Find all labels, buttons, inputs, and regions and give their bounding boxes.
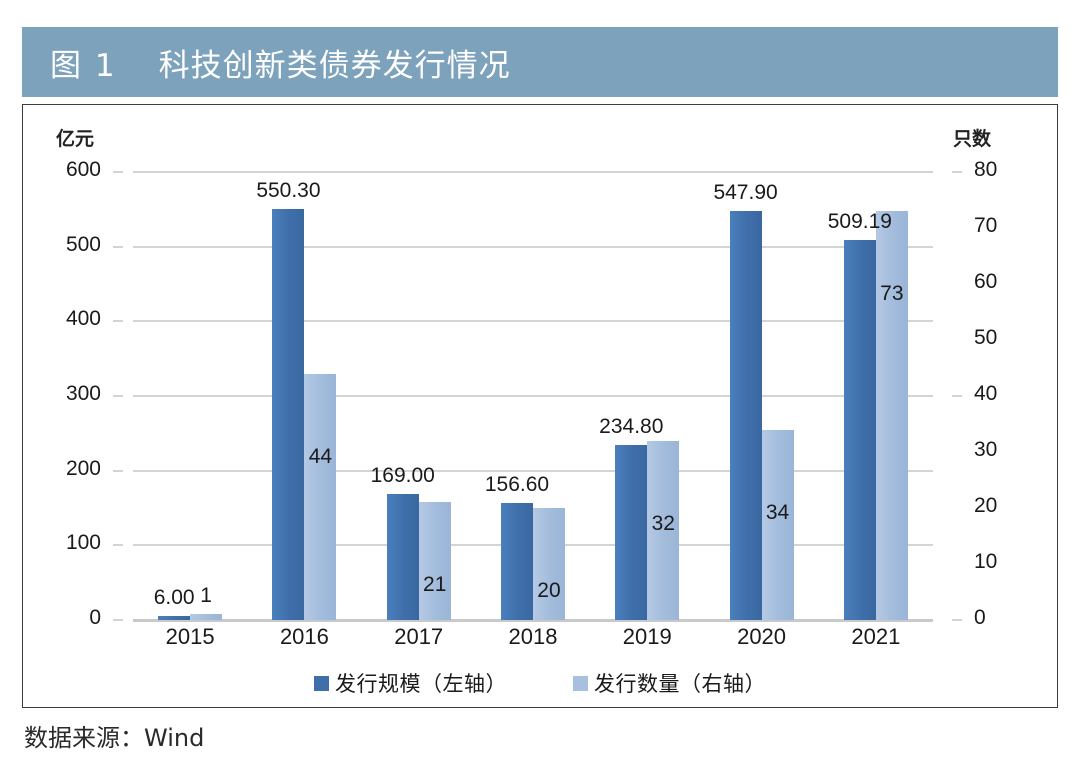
- data-label-issuance-size-2017: 169.00: [348, 464, 458, 488]
- data-label-issuance-count-2015: 1: [186, 584, 226, 608]
- legend-label: 发行数量（右轴）: [594, 668, 766, 698]
- figure-header-band: 图 1 科技创新类债券发行情况: [22, 27, 1058, 97]
- bar-group-2015: 6.001: [133, 172, 247, 620]
- data-label-issuance-count-2018: 20: [529, 579, 569, 603]
- y-axis-right-tick-mark: [952, 171, 962, 173]
- data-label-issuance-count-2019: 32: [643, 512, 683, 536]
- x-axis-tick-label-2020: 2020: [704, 624, 818, 650]
- x-axis-tick-label-2021: 2021: [819, 624, 933, 650]
- y-axis-right-tick-label: 20: [974, 494, 997, 518]
- bar-issuance-count-2018[interactable]: [533, 508, 565, 620]
- y-axis-right-tick-label: 10: [974, 550, 997, 574]
- y-axis-left-tick-label: 400: [66, 307, 101, 331]
- y-axis-right-tick-label: 80: [974, 158, 997, 182]
- y-axis-right-tick-mark: [952, 395, 962, 397]
- data-label-issuance-count-2020: 34: [758, 501, 798, 525]
- right-axis-unit-label: 只数: [953, 124, 991, 151]
- bar-issuance-count-2016[interactable]: [304, 374, 336, 620]
- data-label-issuance-size-2018: 156.60: [462, 473, 572, 497]
- legend-swatch-icon: [573, 676, 588, 691]
- legend-item-issuance-size[interactable]: 发行规模（左轴）: [314, 668, 507, 698]
- y-axis-right-tick-label: 30: [974, 438, 997, 462]
- data-label-issuance-size-2020: 547.90: [691, 181, 801, 205]
- x-axis-tick-label-2015: 2015: [133, 624, 247, 650]
- bar-group-2018: 156.6020: [476, 172, 590, 620]
- data-label-issuance-size-2019: 234.80: [576, 415, 686, 439]
- y-axis-left-tick-mark: [113, 470, 123, 472]
- y-axis-left-tick-mark: [113, 395, 123, 397]
- y-axis-left-tick-mark: [113, 171, 123, 173]
- legend-swatch-icon: [314, 676, 329, 691]
- y-axis-left-tick-label: 500: [66, 233, 101, 257]
- bar-issuance-count-2017[interactable]: [419, 502, 451, 620]
- bar-issuance-count-2015[interactable]: [190, 614, 222, 620]
- plot-area: 6.001550.3044169.0021156.6020234.8032547…: [133, 172, 933, 620]
- legend-label: 发行规模（左轴）: [335, 668, 507, 698]
- bar-group-2021: 509.1973: [819, 172, 933, 620]
- data-label-issuance-count-2021: 73: [872, 282, 912, 306]
- data-label-issuance-count-2016: 44: [300, 445, 340, 469]
- bar-issuance-size-2017[interactable]: [387, 494, 419, 620]
- chart-legend: 发行规模（左轴）发行数量（右轴）: [0, 668, 1080, 698]
- y-axis-left-tick-label: 100: [66, 531, 101, 555]
- data-label-issuance-size-2021: 509.19: [805, 210, 915, 234]
- data-label-issuance-size-2016: 550.30: [233, 179, 343, 203]
- bar-issuance-count-2021[interactable]: [876, 211, 908, 620]
- y-axis-left-tick-label: 0: [89, 606, 101, 630]
- x-axis-tick-label-2019: 2019: [590, 624, 704, 650]
- bar-group-2016: 550.3044: [247, 172, 361, 620]
- figure-title: 科技创新类债券发行情况: [159, 40, 511, 85]
- y-axis-right: 80706050403020100: [952, 172, 1022, 620]
- data-label-issuance-count-2017: 21: [415, 573, 455, 597]
- y-axis-right-tick-mark: [952, 619, 962, 621]
- y-axis-right-tick-label: 60: [974, 270, 997, 294]
- y-axis-left: 6005004003002001000: [55, 172, 123, 620]
- bar-issuance-size-2015[interactable]: [158, 616, 190, 620]
- y-axis-right-tick-label: 0: [974, 606, 986, 630]
- bar-issuance-size-2020[interactable]: [730, 211, 762, 620]
- left-axis-unit-label: 亿元: [56, 124, 94, 151]
- y-axis-left-tick-mark: [113, 246, 123, 248]
- legend-item-issuance-count[interactable]: 发行数量（右轴）: [573, 668, 766, 698]
- x-axis-tick-label-2016: 2016: [247, 624, 361, 650]
- y-axis-left-tick-label: 600: [66, 158, 101, 182]
- y-axis-left-tick-mark: [113, 320, 123, 322]
- y-axis-right-tick-label: 70: [974, 214, 997, 238]
- bar-group-2020: 547.9034: [704, 172, 818, 620]
- figure-number: 图 1: [50, 40, 117, 85]
- y-axis-right-tick-label: 50: [974, 326, 997, 350]
- y-axis-left-tick-mark: [113, 619, 123, 621]
- bar-group-2019: 234.8032: [590, 172, 704, 620]
- y-axis-left-tick-label: 300: [66, 382, 101, 406]
- x-axis-tick-label-2018: 2018: [476, 624, 590, 650]
- y-axis-right-tick-label: 40: [974, 382, 997, 406]
- y-axis-left-tick-label: 200: [66, 457, 101, 481]
- y-axis-left-tick-mark: [113, 544, 123, 546]
- bar-group-2017: 169.0021: [362, 172, 476, 620]
- bar-issuance-size-2016[interactable]: [272, 209, 304, 620]
- x-axis-tick-label-2017: 2017: [362, 624, 476, 650]
- x-axis: 2015201620172018201920202021: [133, 624, 933, 658]
- source-note: 数据来源：Wind: [24, 718, 204, 753]
- bar-issuance-count-2020[interactable]: [762, 430, 794, 620]
